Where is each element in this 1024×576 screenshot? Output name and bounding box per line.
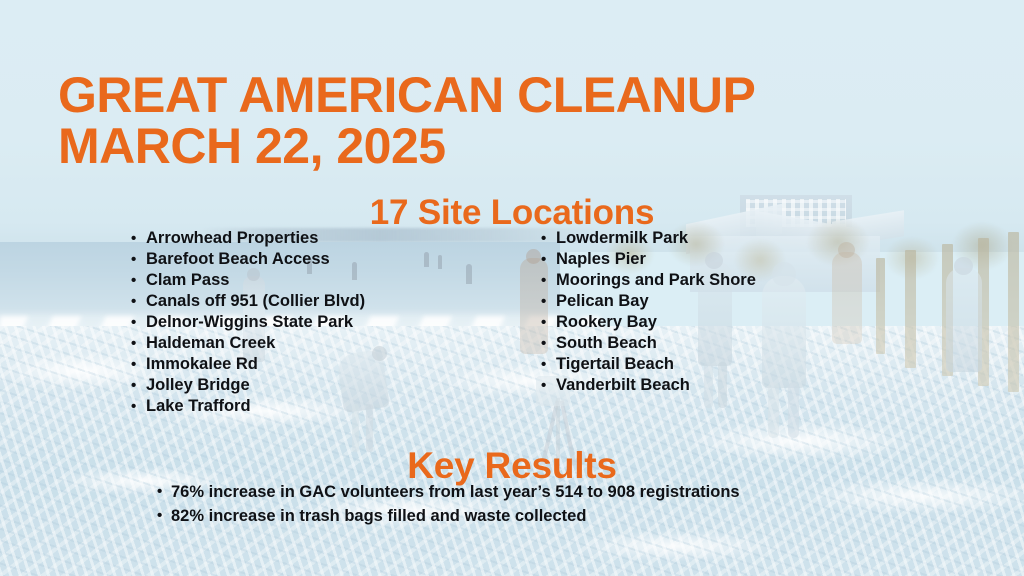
slide-title: GREAT AMERICAN CLEANUP MARCH 22, 2025: [58, 70, 958, 172]
list-item: Rookery Bay: [541, 312, 756, 333]
list-item: Pelican Bay: [541, 291, 756, 312]
list-item: Barefoot Beach Access: [131, 249, 365, 270]
list-item: Jolley Bridge: [131, 375, 365, 396]
list-item: Canals off 951 (Collier Blvd): [131, 291, 365, 312]
presentation-slide: GREAT AMERICAN CLEANUP MARCH 22, 2025 17…: [0, 0, 1024, 576]
slide-content: GREAT AMERICAN CLEANUP MARCH 22, 2025 17…: [0, 0, 1024, 576]
site-list-right: Lowdermilk Park Naples Pier Moorings and…: [541, 228, 756, 396]
list-item: South Beach: [541, 333, 756, 354]
list-item: Lake Trafford: [131, 396, 365, 417]
list-item: 76% increase in GAC volunteers from last…: [157, 481, 897, 503]
list-item: Delnor-Wiggins State Park: [131, 312, 365, 333]
list-item: Haldeman Creek: [131, 333, 365, 354]
key-results-list: 76% increase in GAC volunteers from last…: [157, 481, 897, 529]
list-item: 82% increase in trash bags filled and wa…: [157, 505, 897, 527]
list-item: Naples Pier: [541, 249, 756, 270]
list-item: Vanderbilt Beach: [541, 375, 756, 396]
site-list-left: Arrowhead Properties Barefoot Beach Acce…: [131, 228, 365, 417]
list-item: Tigertail Beach: [541, 354, 756, 375]
list-item: Moorings and Park Shore: [541, 270, 756, 291]
list-item: Clam Pass: [131, 270, 365, 291]
list-item: Arrowhead Properties: [131, 228, 365, 249]
list-item: Lowdermilk Park: [541, 228, 756, 249]
list-item: Immokalee Rd: [131, 354, 365, 375]
